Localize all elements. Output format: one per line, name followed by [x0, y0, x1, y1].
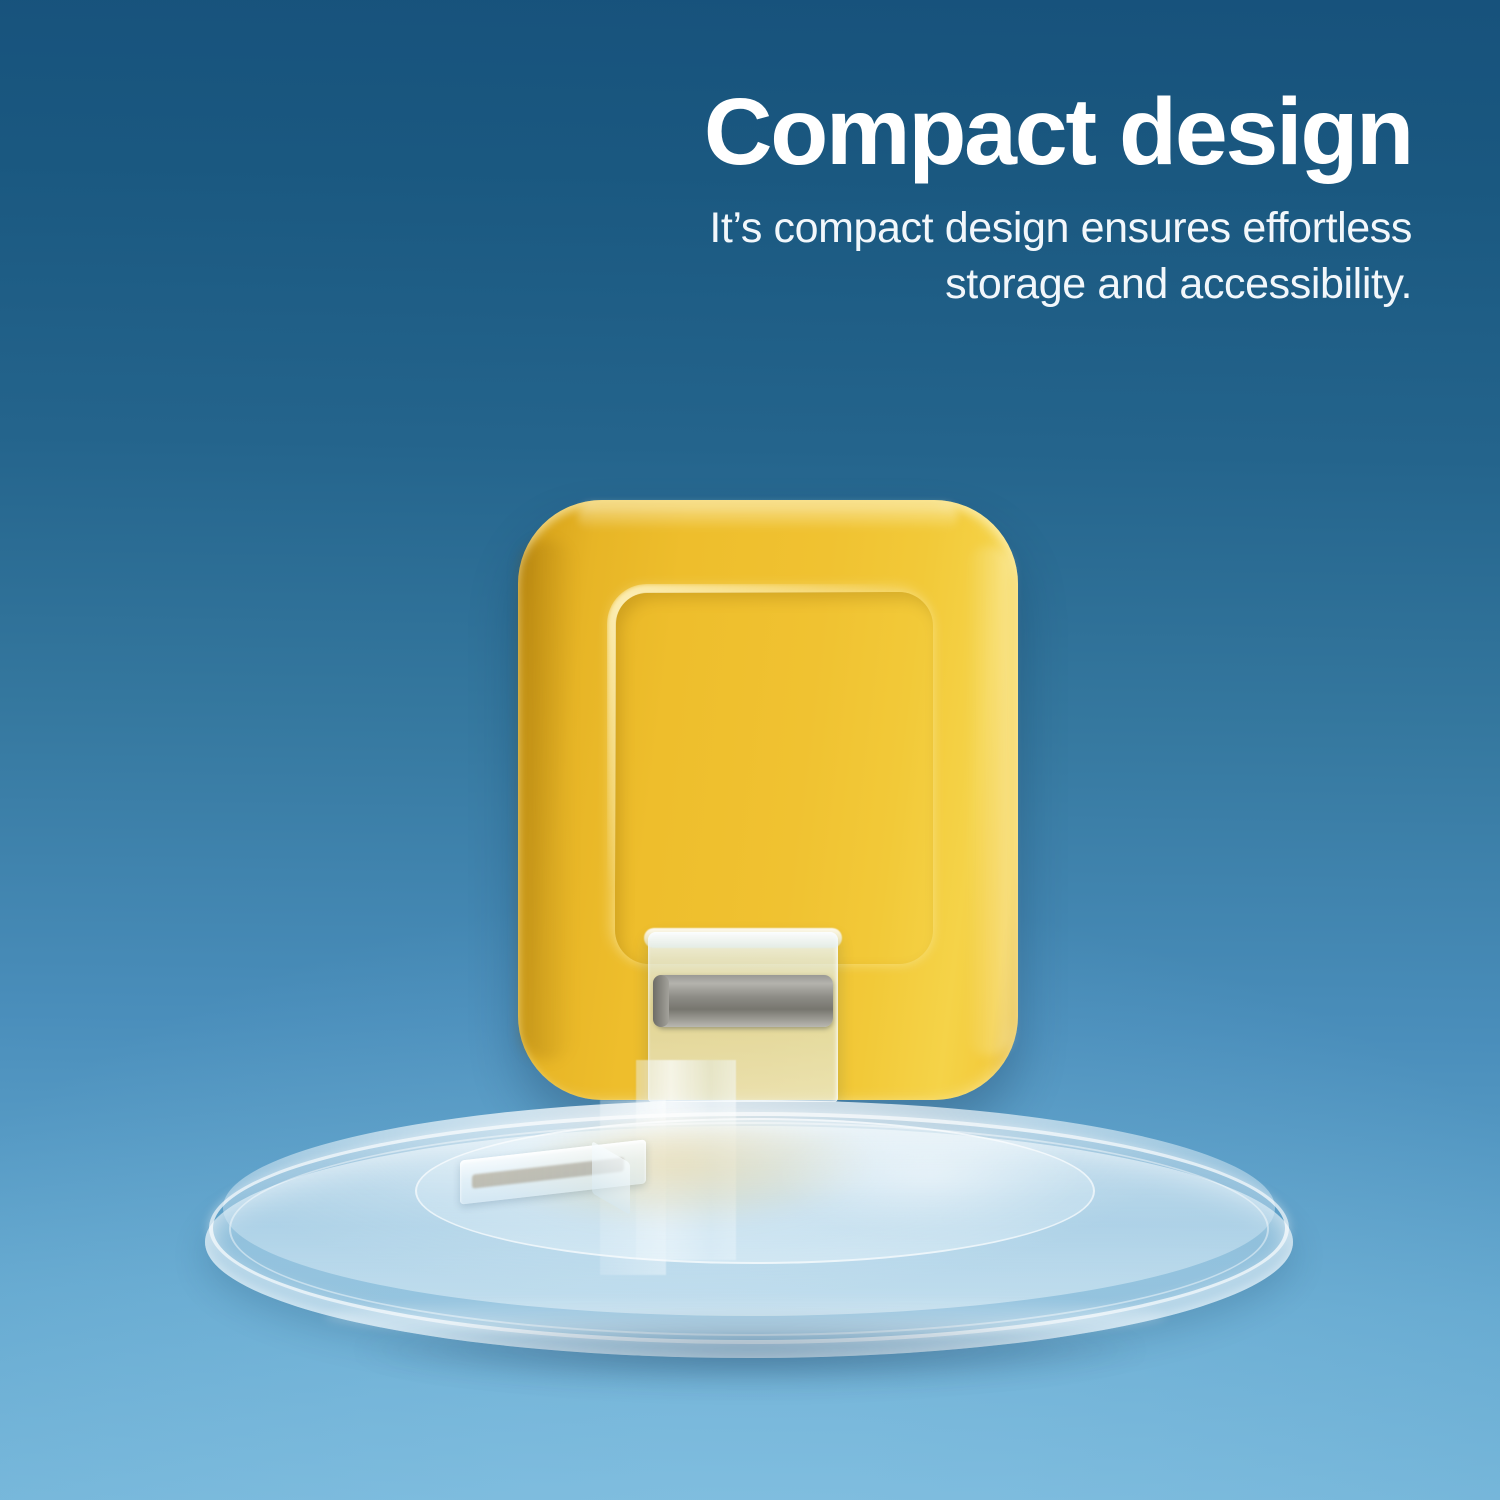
base-inner-rim — [229, 1122, 1269, 1336]
base-contact-shadow — [250, 1305, 1250, 1395]
subtitle-line-1: It’s compact design ensures effortless — [0, 201, 1412, 257]
subtitle: It’s compact design ensures effortless s… — [0, 201, 1412, 313]
bracket-top-edge — [644, 928, 842, 948]
subtitle-line-2: storage and accessibility. — [0, 257, 1412, 313]
pin-end-cap — [653, 975, 669, 1027]
page-title: Compact design — [0, 84, 1412, 181]
ring-cutout-window — [615, 592, 933, 964]
banner-canvas: Compact design It’s compact design ensur… — [0, 0, 1500, 1500]
metal-pivot-pin — [655, 975, 833, 1027]
headline-block: Compact design It’s compact design ensur… — [0, 84, 1412, 313]
